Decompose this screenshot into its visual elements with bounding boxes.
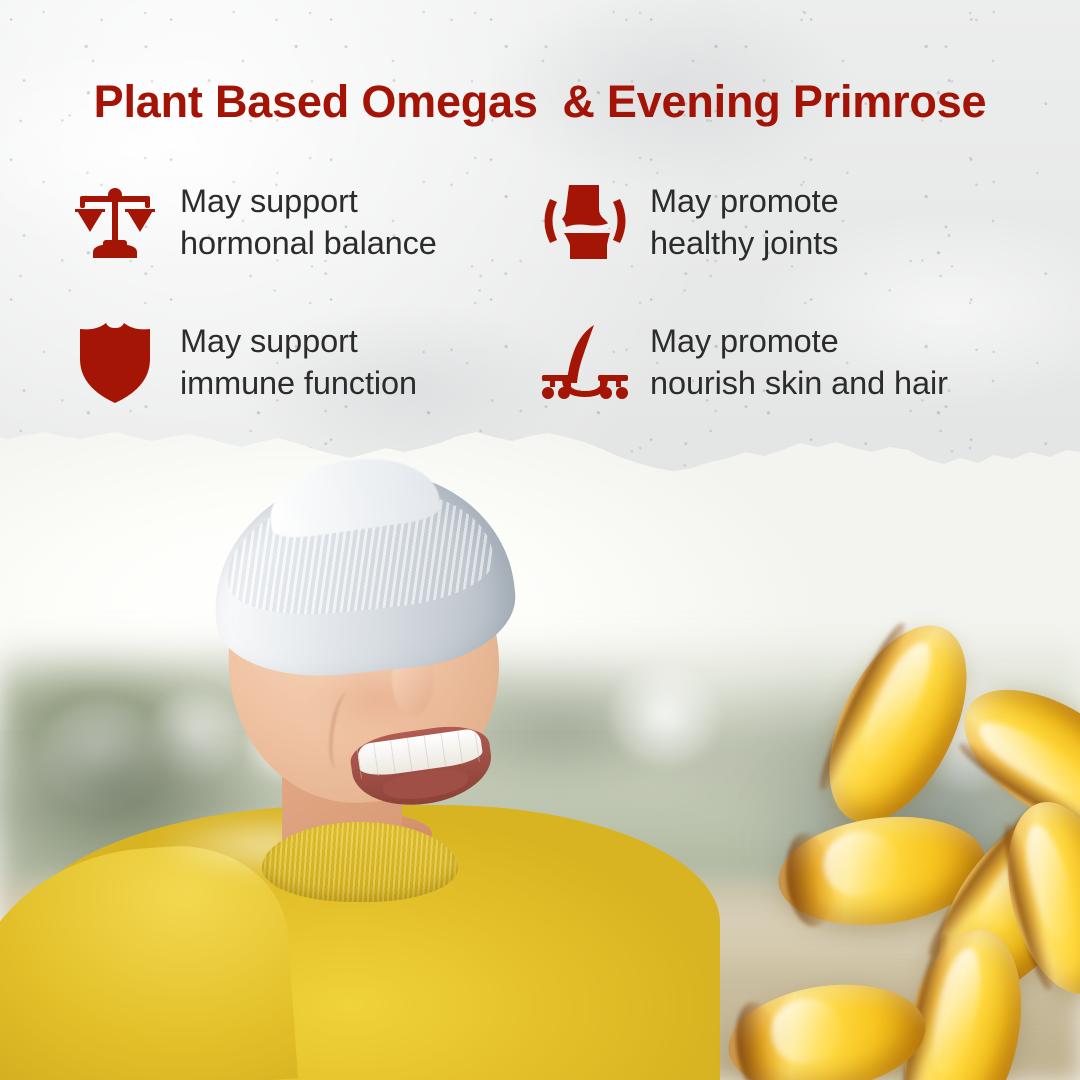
benefit-item-hormonal-balance: May support hormonal balance xyxy=(72,152,542,292)
benefit-label: May promote healthy joints xyxy=(650,180,839,265)
balance-scale-icon xyxy=(72,174,158,270)
benefit-item-skin-and-hair: May promote nourish skin and hair xyxy=(542,292,1012,432)
hair-follicle-icon xyxy=(542,314,628,410)
page-title: Plant Based Omegas & Evening Primrose xyxy=(0,76,1080,128)
benefits-grid: May support hormonal balance May promote… xyxy=(72,152,1080,432)
benefit-item-immune-function: May support immune function xyxy=(72,292,542,432)
knee-joint-icon xyxy=(542,174,628,270)
benefits-content: Plant Based Omegas & Evening Primrose xyxy=(0,0,1080,440)
shield-icon xyxy=(72,314,158,410)
benefit-label: May support immune function xyxy=(180,320,417,405)
benefit-item-healthy-joints: May promote healthy joints xyxy=(542,152,1012,292)
benefit-label: May support hormonal balance xyxy=(180,180,437,265)
benefit-label: May promote nourish skin and hair xyxy=(650,320,948,405)
product-benefit-banner: Plant Based Omegas & Evening Primrose xyxy=(0,0,1080,1080)
capsule xyxy=(722,973,933,1080)
